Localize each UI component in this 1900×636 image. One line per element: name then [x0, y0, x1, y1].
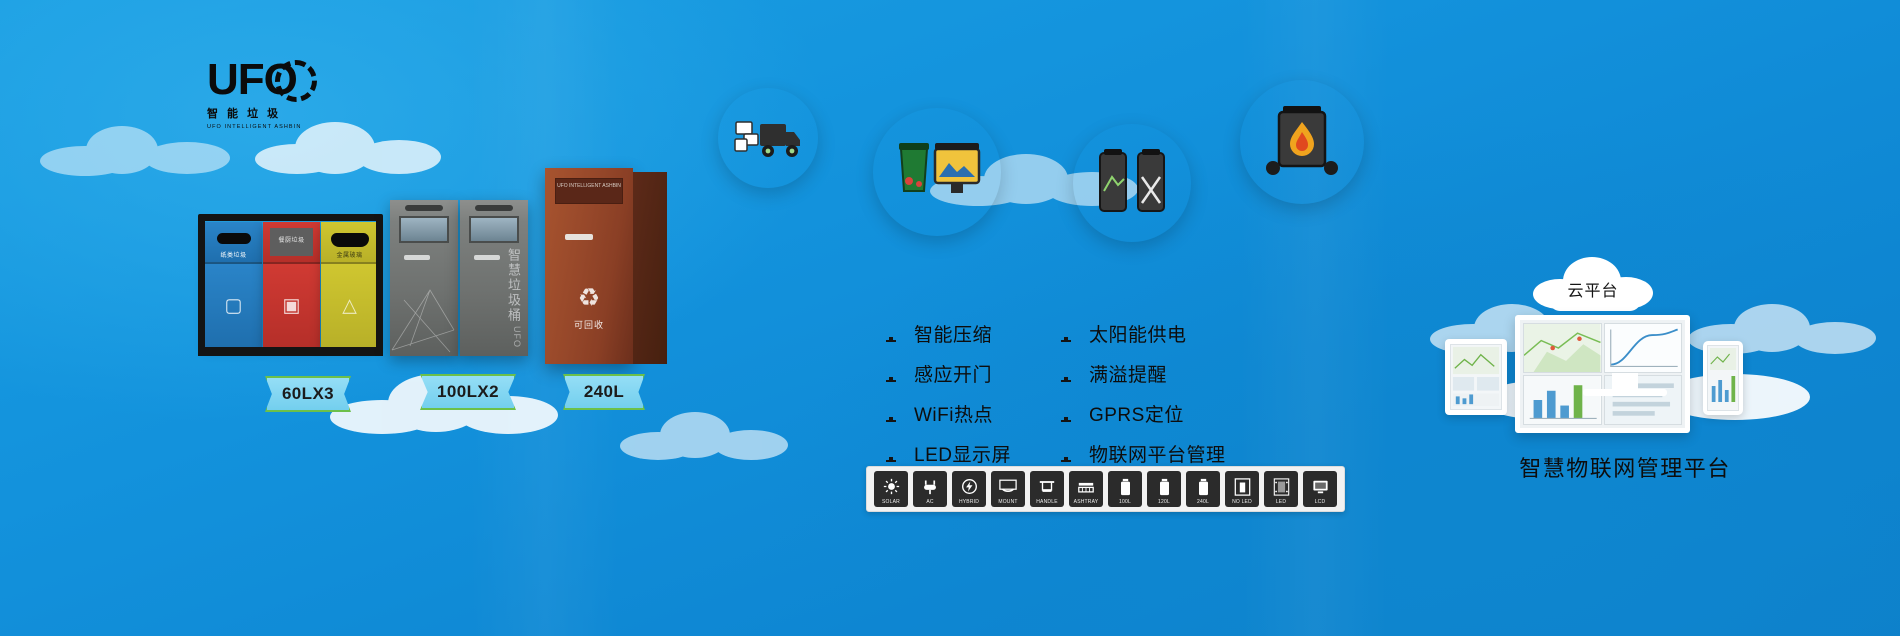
dual-bin-icon [1073, 124, 1191, 242]
platform-title: 智慧物联网管理平台 [1415, 451, 1835, 483]
feature-item: WiFi热点 [880, 400, 1011, 427]
feature-circle-smart-compression[interactable] [718, 88, 818, 188]
spec-option-ac[interactable]: AC [913, 471, 947, 507]
feature-label: WiFi热点 [914, 400, 993, 427]
bin-column-metal-glass[interactable]: 金属玻璃 △ [321, 222, 378, 347]
feature-label: GPRS定位 [1089, 400, 1184, 427]
bin-120l-icon [1147, 474, 1181, 499]
recycle-icon: ♻ [578, 286, 600, 311]
bin-240l-icon [1186, 474, 1220, 499]
spec-label: LCD [1315, 499, 1326, 506]
spec-option-handle[interactable]: HANDLE [1030, 471, 1064, 507]
feature-list: 智能压缩 感应开门 WiFi热点 LED显示屏 太阳能供电 满溢提醒 [880, 320, 1300, 467]
feature-circle-solar-bin[interactable] [873, 108, 1001, 236]
monitor-screen [1520, 320, 1685, 428]
paper-icon: ▢ [225, 296, 243, 315]
monitor-icon [880, 405, 902, 422]
bin-display-screen [399, 216, 449, 243]
bin-label: 可回收 [545, 318, 633, 331]
monitor-icon [880, 325, 902, 342]
feature-label: LED显示屏 [914, 440, 1011, 467]
spec-label: HYBRID [959, 499, 979, 506]
feature-item: 感应开门 [880, 360, 1011, 387]
spec-label: 240L [1197, 499, 1209, 506]
spec-option-strip: SOLAR AC HYBRID MOUNT HANDLE ASHTRAY 100… [866, 466, 1345, 512]
drop-slot-icon [217, 233, 251, 244]
feature-circle-fire-alarm[interactable] [1240, 80, 1364, 204]
feature-item: GPRS定位 [1055, 400, 1226, 427]
wall-mount-icon [991, 474, 1025, 499]
solar-bin-icon [873, 108, 1001, 236]
monitor-icon [880, 445, 902, 462]
spec-option-lcd[interactable]: LCD [1303, 471, 1337, 507]
feature-item: 物联网平台管理 [1055, 440, 1226, 467]
monitor-base [1583, 389, 1667, 396]
spec-label: 120L [1158, 499, 1170, 506]
tablet-screen [1450, 344, 1502, 410]
spec-label: LED [1276, 499, 1286, 506]
lcd-icon [1303, 474, 1337, 499]
bin-side-text: 智慧垃圾桶 [506, 248, 521, 323]
spec-option-120l[interactable]: 120L [1147, 471, 1181, 507]
handle-icon [1030, 474, 1064, 499]
capacity-badge-60lx3: 60LX3 [265, 376, 351, 412]
monitor-neck [1612, 373, 1638, 389]
spec-option-mount[interactable]: MOUNT [991, 471, 1025, 507]
food-icon: ▣ [283, 296, 301, 315]
feature-label: 智能压缩 [914, 320, 992, 347]
bin-brown-240l[interactable]: UFO INTELLIGENT ASHBIN ♻ 可回收 [545, 168, 633, 364]
feature-item: 智能压缩 [880, 320, 1011, 347]
spec-option-100l[interactable]: 100L [1108, 471, 1142, 507]
spec-label: ASHTRAY [1074, 499, 1099, 506]
spec-option-hybrid[interactable]: HYBRID [952, 471, 986, 507]
bin-label: 纸类垃圾 [205, 250, 262, 259]
sun-icon [874, 474, 908, 499]
bin-display-screen [469, 216, 519, 243]
bin-side-panel [633, 172, 667, 364]
bin-label: 金属玻璃 [321, 250, 378, 259]
feature-item: LED显示屏 [880, 440, 1011, 467]
monitor-icon [1055, 325, 1077, 342]
spec-option-no-led[interactable]: NO LED [1225, 471, 1259, 507]
bin-base [198, 347, 383, 356]
drop-slot-icon [331, 233, 369, 247]
bottle-icon: △ [342, 296, 357, 315]
bin-column-kitchen[interactable]: 餐厨垃圾 ▣ [263, 222, 320, 347]
feature-label: 满溢提醒 [1089, 360, 1167, 387]
dashboard-map-panel [1523, 323, 1602, 373]
bin-grey-twin[interactable]: 智慧垃圾桶 UFO [390, 200, 530, 356]
capacity-badge-240l: 240L [563, 374, 645, 410]
spec-label: AC [926, 499, 933, 506]
spec-label: HANDLE [1036, 499, 1057, 506]
cloud-badge: 云平台 [1533, 255, 1653, 311]
spec-label: MOUNT [998, 499, 1017, 506]
spec-label: NO LED [1232, 499, 1252, 506]
promotional-banner: UFO 智 能 垃 圾 UFO INTELLIGENT ASHBIN 纸类垃圾 … [0, 0, 1900, 636]
feature-item: 太阳能供电 [1055, 320, 1226, 347]
dashboard-bar-panel [1523, 375, 1602, 425]
bin-100l-icon [1108, 474, 1142, 499]
spec-option-solar[interactable]: SOLAR [874, 471, 908, 507]
iot-platform-illustration: 云平台 [1415, 255, 1835, 515]
bin-column-paper[interactable]: 纸类垃圾 ▢ [205, 222, 262, 347]
spec-label: SOLAR [882, 499, 900, 506]
bin-grey-left[interactable] [390, 200, 458, 356]
decor-lines [390, 260, 458, 356]
desktop-monitor[interactable] [1515, 315, 1690, 433]
monitor-icon [1055, 365, 1077, 382]
no-led-icon [1225, 474, 1259, 499]
dashboard-chart-panel [1604, 323, 1683, 373]
cloud-label: 云平台 [1533, 277, 1653, 301]
smartphone-device[interactable] [1703, 341, 1743, 415]
feature-item: 满溢提醒 [1055, 360, 1226, 387]
feature-column-right: 太阳能供电 满溢提醒 GPRS定位 物联网平台管理 [1055, 320, 1226, 467]
plug-icon [913, 474, 947, 499]
capacity-badge-100lx2: 100LX2 [420, 374, 516, 410]
spec-label: 100L [1119, 499, 1131, 506]
feature-column-left: 智能压缩 感应开门 WiFi热点 LED显示屏 [880, 320, 1011, 467]
hybrid-power-icon [952, 474, 986, 499]
compactor-truck-icon [718, 88, 818, 188]
handle-icon [565, 234, 593, 240]
monitor-icon [1055, 405, 1077, 422]
bin-top-label: UFO INTELLIGENT ASHBIN [545, 183, 633, 189]
monitor-icon [880, 365, 902, 382]
spec-option-ashtray[interactable]: ASHTRAY [1069, 471, 1103, 507]
spec-option-240l[interactable]: 240L [1186, 471, 1220, 507]
bin-brand-text: UFO [512, 326, 522, 348]
bin-label: 餐厨垃圾 [263, 235, 320, 244]
monitor-icon [1055, 445, 1077, 462]
feature-label: 感应开门 [914, 360, 992, 387]
feature-circle-dual-bin[interactable] [1073, 124, 1191, 242]
led-icon [1264, 474, 1298, 499]
feature-label: 太阳能供电 [1089, 320, 1187, 347]
bin-top-opening [555, 178, 623, 204]
ashtray-icon [1069, 474, 1103, 499]
bin-grey-right[interactable]: 智慧垃圾桶 UFO [460, 200, 528, 356]
bin-tri-sorting[interactable]: 纸类垃圾 ▢ 餐厨垃圾 ▣ 金属玻璃 △ [205, 222, 379, 347]
phone-screen [1707, 345, 1739, 411]
handle-icon [474, 255, 500, 260]
fire-bin-icon [1240, 80, 1364, 204]
spec-option-led[interactable]: LED [1264, 471, 1298, 507]
product-lineup: 纸类垃圾 ▢ 餐厨垃圾 ▣ 金属玻璃 △ [0, 0, 760, 520]
feature-label: 物联网平台管理 [1089, 440, 1226, 467]
tablet-device[interactable] [1445, 339, 1507, 415]
